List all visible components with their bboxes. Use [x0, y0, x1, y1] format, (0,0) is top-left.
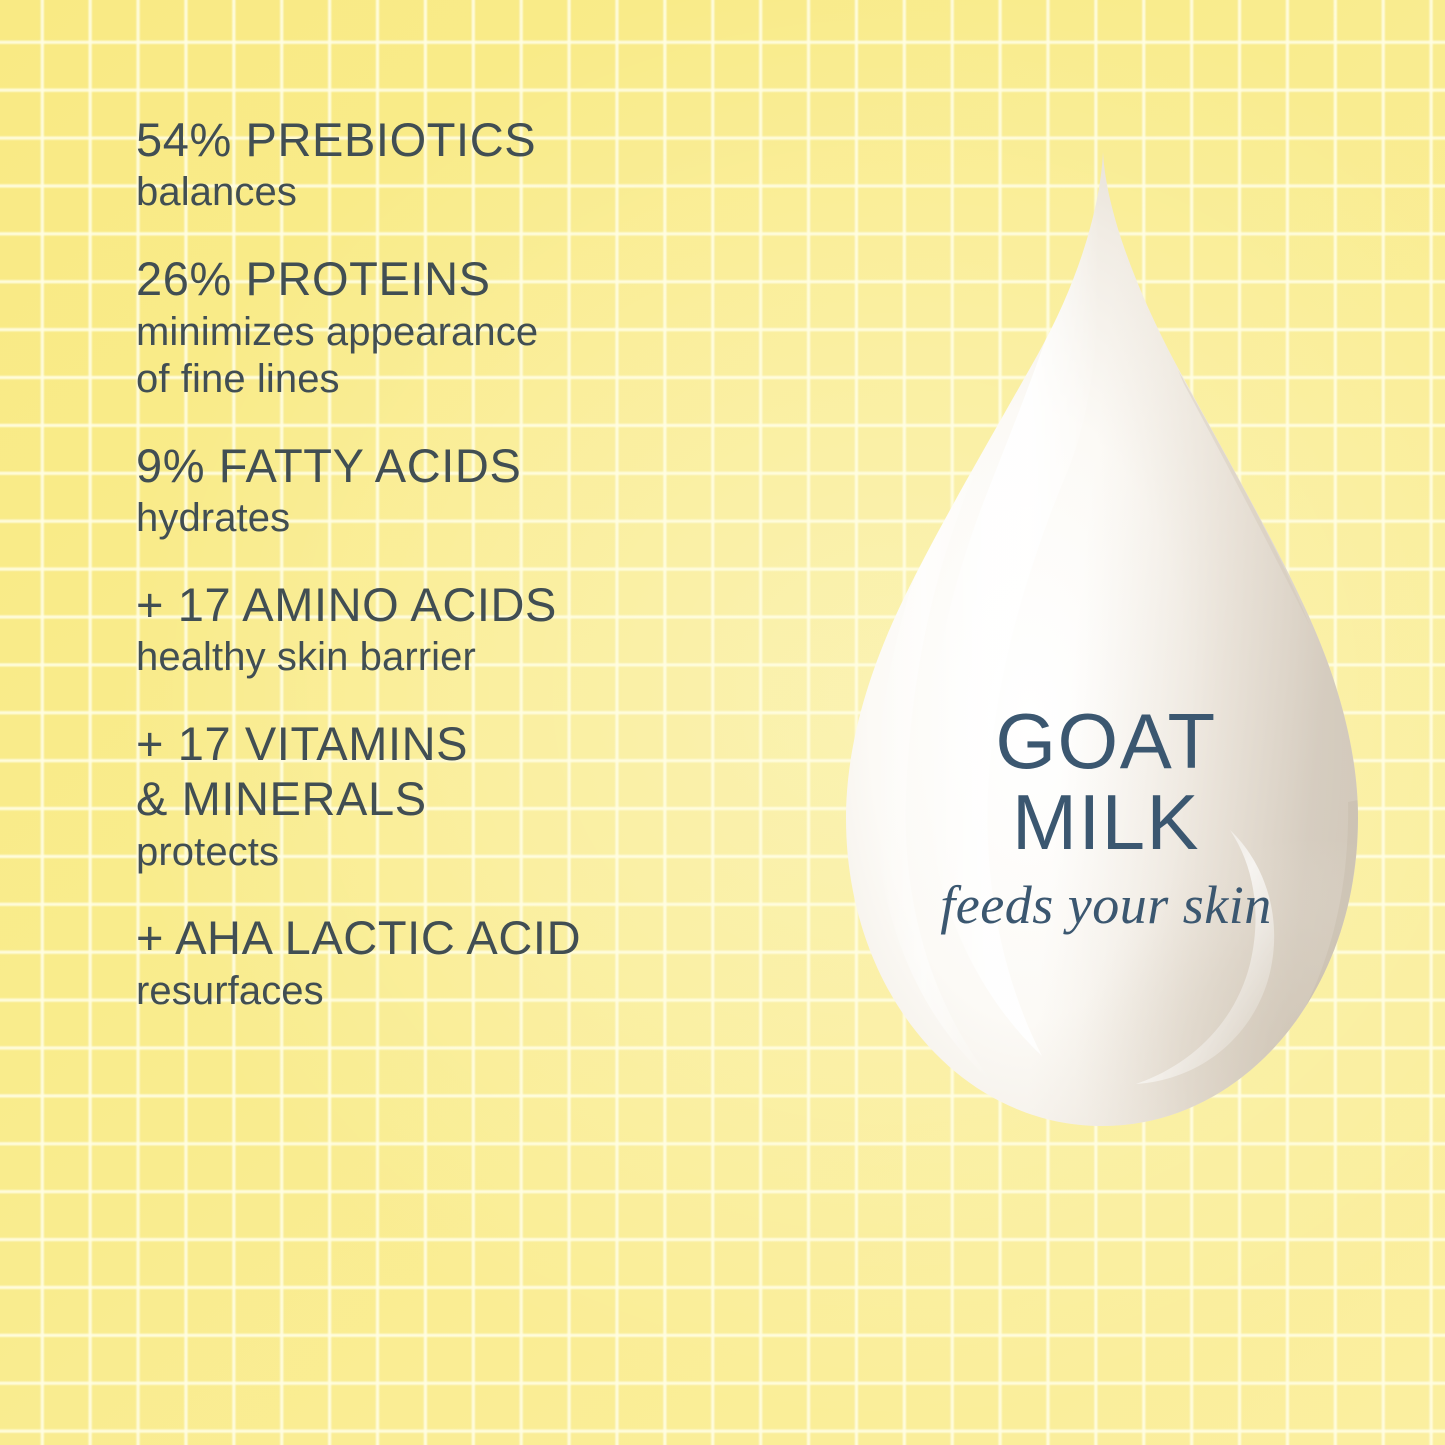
ingredient-benefit: resurfaces: [136, 968, 816, 1016]
ingredient-benefit: hydrates: [136, 495, 816, 543]
ingredient-heading: 9% FATTY ACIDS: [136, 438, 816, 493]
ingredient-benefit: balances: [136, 169, 816, 217]
milk-droplet-icon: [806, 140, 1406, 1160]
ingredient-item-proteins: 26% PROTEINS minimizes appearance of fin…: [136, 251, 816, 404]
goat-milk-ingredient-poster: 54% PREBIOTICS balances 26% PROTEINS min…: [0, 0, 1445, 1445]
ingredient-list: 54% PREBIOTICS balances 26% PROTEINS min…: [136, 112, 816, 1015]
ingredient-item-prebiotics: 54% PREBIOTICS balances: [136, 112, 816, 217]
ingredient-heading: + 17 VITAMINS & MINERALS: [136, 716, 816, 827]
ingredient-heading: 54% PREBIOTICS: [136, 112, 816, 167]
ingredient-item-amino-acids: + 17 AMINO ACIDS healthy skin barrier: [136, 577, 816, 682]
ingredient-benefit: protects: [136, 829, 816, 877]
ingredient-item-aha-lactic-acid: + AHA LACTIC ACID resurfaces: [136, 910, 816, 1015]
ingredient-heading: 26% PROTEINS: [136, 251, 816, 306]
ingredient-item-fatty-acids: 9% FATTY ACIDS hydrates: [136, 438, 816, 543]
ingredient-benefit: healthy skin barrier: [136, 634, 816, 682]
ingredient-benefit: minimizes appearance of fine lines: [136, 309, 816, 404]
ingredient-heading: + 17 AMINO ACIDS: [136, 577, 816, 632]
ingredient-heading: + AHA LACTIC ACID: [136, 910, 816, 965]
ingredient-item-vitamins-minerals: + 17 VITAMINS & MINERALS protects: [136, 716, 816, 877]
